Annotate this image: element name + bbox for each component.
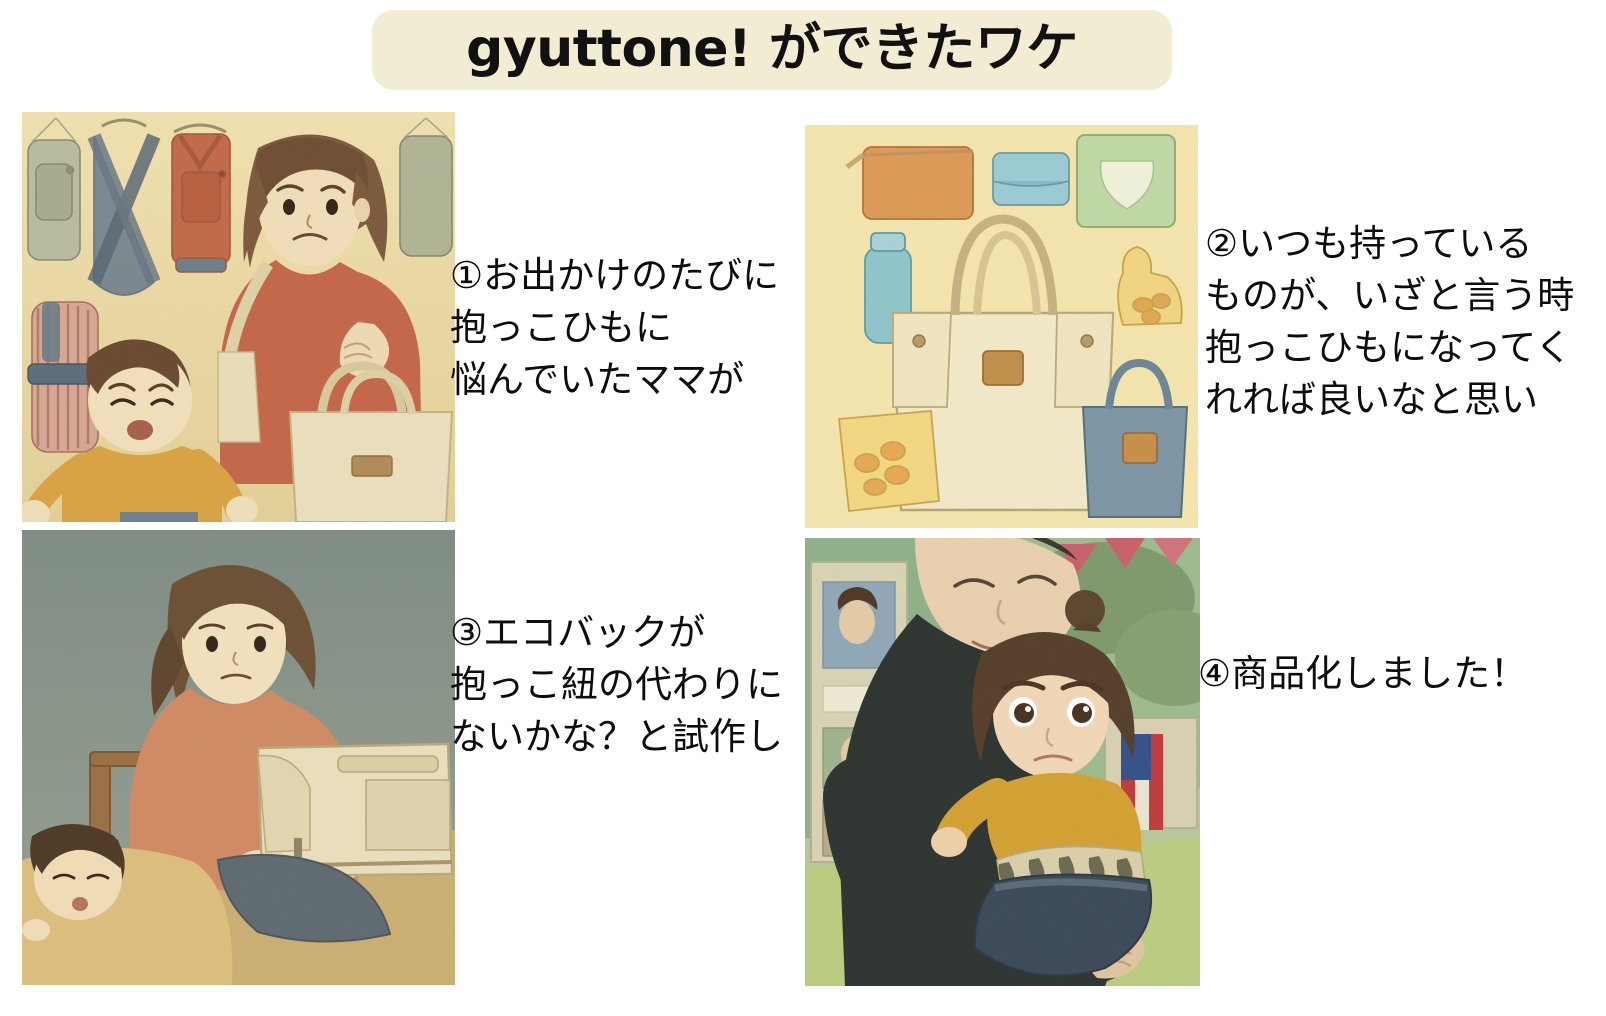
caption-step-1: ①お出かけのたびに 抱っこひもに 悩んでいたママが: [450, 250, 779, 406]
caption-step-3: ③エコバックが 抱っこ紐の代わりに ないかな？と試作し: [450, 607, 783, 763]
panel-2-illustration: [805, 125, 1198, 528]
page-title: gyuttone! ができたワケ: [466, 23, 1078, 75]
infographic-root: gyuttone! ができたワケ: [0, 0, 1606, 1016]
caption-step-2: ②いつも持っている ものが、いざと言う時 抱っこひもになってく れれば良いなと思…: [1205, 218, 1574, 426]
panel-4-illustration: [805, 538, 1200, 986]
panel-1-illustration: [22, 112, 455, 522]
caption-step-4: ④商品化しました！: [1198, 648, 1527, 700]
panel-3-illustration: [22, 530, 455, 985]
title-banner: gyuttone! ができたワケ: [372, 10, 1172, 90]
